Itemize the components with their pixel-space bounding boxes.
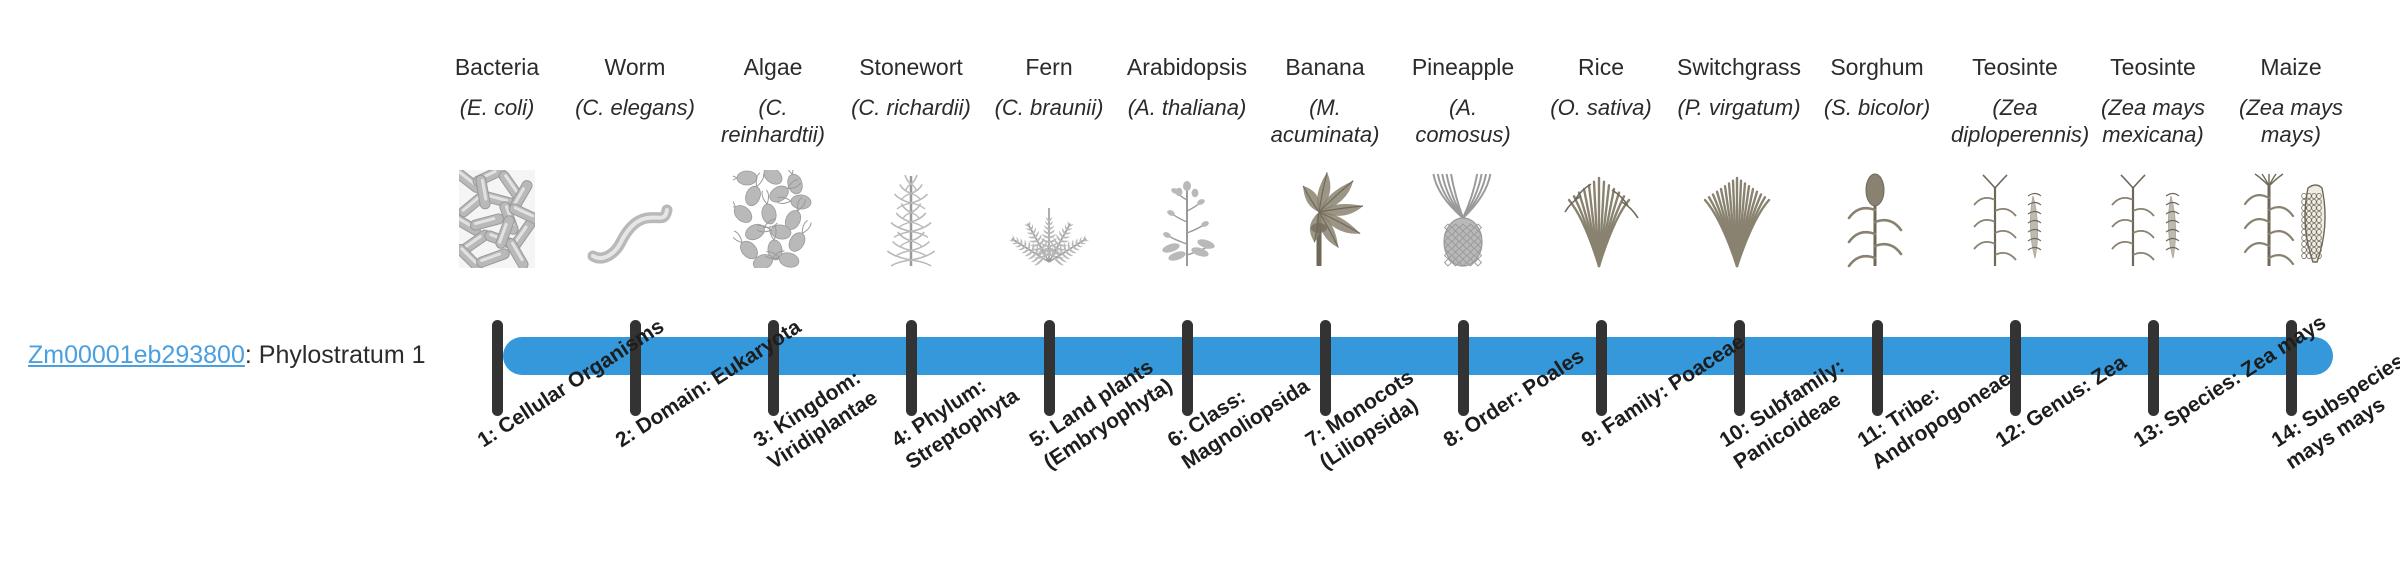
- species-column-11: Sorghum(S. bicolor): [1813, 52, 1941, 121]
- species-common-name: Bacteria: [433, 52, 561, 82]
- species-column-7: Banana(M. acuminata): [1261, 52, 1389, 148]
- species-common-name: Maize: [2227, 52, 2355, 82]
- gene-phylostratum-label: Zm00001eb293800: Phylostratum 1: [28, 340, 426, 370]
- species-common-name: Pineapple: [1399, 52, 1527, 82]
- label-separator: :: [245, 341, 259, 369]
- species-column-14: Maize(Zea mays mays): [2227, 52, 2355, 148]
- species-latin-name: (P. virgatum): [1675, 94, 1803, 121]
- algae-cells-icon: [709, 170, 837, 268]
- species-common-name: Sorghum: [1813, 52, 1941, 82]
- species-column-8: Pineapple(A. comosus): [1399, 52, 1527, 148]
- arabidopsis-icon: [1123, 170, 1251, 268]
- axis-tick-1: [492, 320, 503, 416]
- species-column-9: Rice(O. sativa): [1537, 52, 1665, 121]
- species-latin-name: (M. acuminata): [1261, 94, 1389, 148]
- species-column-5: Fern(C. braunii): [985, 52, 1113, 121]
- species-column-13: Teosinte(Zea mays mexicana): [2089, 52, 2217, 148]
- species-column-12: Teosinte(Zea diploperennis): [1951, 52, 2079, 148]
- species-common-name: Worm: [571, 52, 699, 82]
- species-latin-name: (Zea mays mexicana): [2089, 94, 2217, 148]
- species-latin-name: (S. bicolor): [1813, 94, 1941, 121]
- species-common-name: Arabidopsis: [1123, 52, 1251, 82]
- species-common-name: Algae: [709, 52, 837, 82]
- species-column-4: Stonewort(C. richardii): [847, 52, 975, 121]
- species-latin-name: (Zea diploperennis): [1951, 94, 2079, 148]
- fern-frond-icon: [985, 170, 1113, 268]
- species-latin-name: (A. comosus): [1399, 94, 1527, 148]
- species-latin-name: (E. coli): [433, 94, 561, 121]
- species-common-name: Banana: [1261, 52, 1389, 82]
- species-column-10: Switchgrass(P. virgatum): [1675, 52, 1803, 121]
- switchgrass-icon: [1675, 170, 1803, 268]
- gene-id-link[interactable]: Zm00001eb293800: [28, 341, 245, 369]
- stonewort-icon: [847, 170, 975, 268]
- species-common-name: Teosinte: [1951, 52, 2079, 82]
- species-column-3: Algae(C. reinhardtii): [709, 52, 837, 148]
- species-latin-name: (C. reinhardtii): [709, 94, 837, 148]
- nematode-worm-icon: [571, 170, 699, 268]
- sorghum-icon: [1813, 170, 1941, 268]
- maize-plant-cob-icon: [2227, 170, 2355, 268]
- species-common-name: Stonewort: [847, 52, 975, 82]
- species-latin-name: (C. richardii): [847, 94, 975, 121]
- banana-plant-icon: [1261, 170, 1389, 268]
- species-common-name: Teosinte: [2089, 52, 2217, 82]
- species-common-name: Fern: [985, 52, 1113, 82]
- species-latin-name: (C. elegans): [571, 94, 699, 121]
- species-column-6: Arabidopsis(A. thaliana): [1123, 52, 1251, 121]
- species-common-name: Switchgrass: [1675, 52, 1803, 82]
- species-latin-name: (A. thaliana): [1123, 94, 1251, 121]
- bacteria-rods-icon: [433, 170, 561, 268]
- rice-plant-icon: [1537, 170, 1665, 268]
- pineapple-icon: [1399, 170, 1527, 268]
- species-latin-name: (C. braunii): [985, 94, 1113, 121]
- phylostratum-value: Phylostratum 1: [259, 341, 426, 369]
- species-common-name: Rice: [1537, 52, 1665, 82]
- species-latin-name: (O. sativa): [1537, 94, 1665, 121]
- teosinte-plant-ear-icon: [1951, 170, 2079, 268]
- phylostratigraphy-figure: Zm00001eb293800: Phylostratum 1 Bacteria…: [0, 0, 2400, 580]
- species-latin-name: (Zea mays mays): [2227, 94, 2355, 148]
- species-column-2: Worm(C. elegans): [571, 52, 699, 121]
- teosinte-plant-ear-icon: [2089, 170, 2217, 268]
- species-column-1: Bacteria(E. coli): [433, 52, 561, 121]
